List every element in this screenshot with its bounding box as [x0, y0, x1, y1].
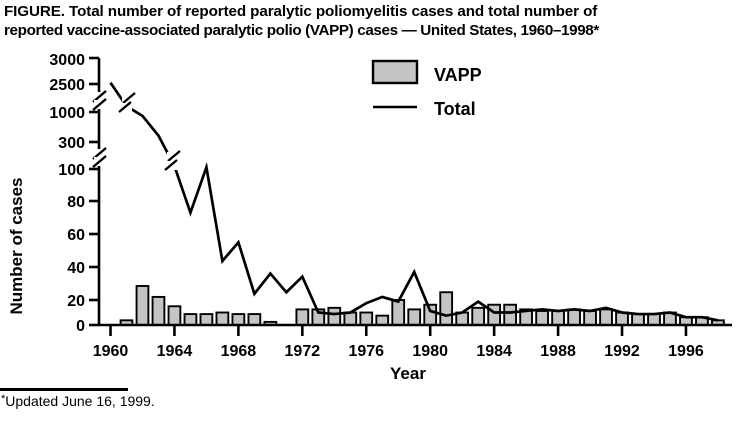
vapp-bar-1991 — [600, 309, 612, 325]
y-label-80: 80 — [67, 194, 85, 211]
vapp-bar-1975 — [344, 313, 356, 325]
footnote: *Updated June 16, 1999. — [0, 388, 750, 409]
vapp-bar-1993 — [632, 314, 644, 325]
vapp-bar-1963 — [153, 297, 165, 325]
vapp-bar-1978 — [392, 300, 404, 325]
total-cases-line — [111, 83, 718, 321]
vapp-bar-1966 — [201, 314, 213, 325]
vapp-bar-1976 — [360, 313, 372, 325]
vapp-bar-1965 — [185, 314, 197, 325]
footnote-text-row: *Updated June 16, 1999. — [0, 393, 750, 409]
x-label-1964: 1964 — [157, 343, 193, 360]
x-label-1992: 1992 — [604, 343, 640, 360]
x-axis-title: Year — [390, 364, 426, 383]
axis-break-lower-icon — [93, 148, 106, 167]
vapp-bar-1994 — [648, 314, 660, 325]
vapp-bar-1972 — [296, 309, 308, 325]
x-label-1984: 1984 — [476, 343, 512, 360]
vapp-bar-1977 — [376, 316, 388, 325]
y-label-0: 0 — [76, 318, 85, 335]
axis-break-upper-icon — [93, 91, 106, 110]
y-label-20: 20 — [67, 293, 85, 310]
vapp-bar-1967 — [216, 313, 228, 325]
x-label-1996: 1996 — [668, 343, 704, 360]
y-label-60: 60 — [67, 227, 85, 244]
legend-label-total: Total — [434, 99, 476, 119]
chart-legend: VAPP Total — [373, 61, 482, 119]
y-axis-labels: 0 20 40 60 80 100 300 1000 2500 3000 — [49, 52, 85, 335]
x-label-1972: 1972 — [285, 343, 321, 360]
footnote-body: Updated June 16, 1999. — [5, 393, 154, 409]
vapp-bar-1987 — [536, 311, 548, 325]
figure-root: FIGURE. Total number of reported paralyt… — [0, 0, 750, 426]
footnote-rule — [0, 388, 128, 391]
figure-title-line-1: FIGURE. Total number of reported paralyt… — [4, 3, 597, 20]
x-label-1960: 1960 — [93, 343, 129, 360]
vapp-bar-1979 — [408, 309, 420, 325]
vapp-bar-1985 — [504, 305, 516, 325]
y-label-1000: 1000 — [49, 105, 85, 122]
x-label-1980: 1980 — [412, 343, 448, 360]
x-label-1968: 1968 — [221, 343, 257, 360]
y-label-2500: 2500 — [49, 77, 85, 94]
legend-label-vapp: VAPP — [434, 65, 482, 85]
y-label-100: 100 — [58, 162, 85, 179]
vapp-bar-1989 — [568, 309, 580, 325]
x-label-1976: 1976 — [348, 343, 384, 360]
vapp-bar-1962 — [137, 286, 149, 325]
vapp-bar-1981 — [440, 292, 452, 325]
vapp-bar-1969 — [248, 314, 260, 325]
vapp-bar-1974 — [328, 308, 340, 325]
vapp-bar-1983 — [472, 308, 484, 325]
y-label-300: 300 — [58, 135, 85, 152]
vapp-bar-1990 — [584, 311, 596, 325]
vapp-bar-1968 — [232, 314, 244, 325]
vapp-bar-1964 — [169, 306, 181, 325]
vapp-bar-1988 — [552, 311, 564, 325]
x-label-1988: 1988 — [540, 343, 576, 360]
figure-title: FIGURE. Total number of reported paralyt… — [4, 2, 748, 41]
line-break-marks — [118, 93, 181, 170]
vapp-bar-1984 — [488, 305, 500, 325]
y-label-40: 40 — [67, 260, 85, 277]
y-axis-title: Number of cases — [7, 178, 26, 315]
vapp-bar-1992 — [616, 313, 628, 325]
plot-area — [111, 83, 724, 325]
x-axis-ticks-and-labels: 1960196419681972197619801984198819921996 — [93, 325, 704, 360]
legend-swatch-vapp — [373, 61, 417, 83]
polio-cases-chart: Number of cases — [0, 46, 750, 386]
y-label-3000: 3000 — [49, 52, 85, 69]
figure-title-line-2: reported vaccine-associated paralytic po… — [4, 21, 748, 40]
